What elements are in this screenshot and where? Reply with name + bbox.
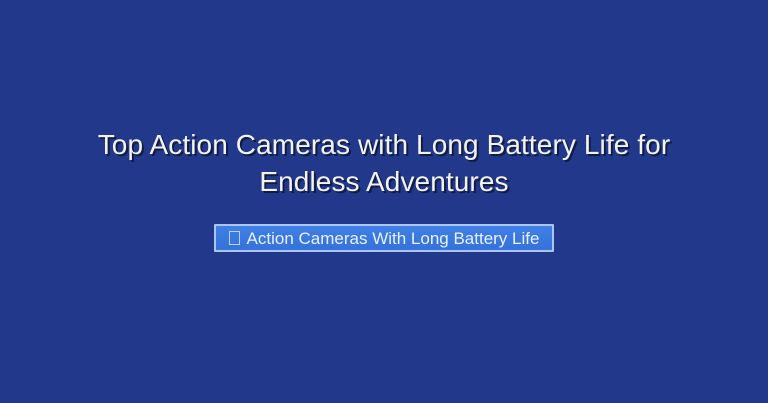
- missing-glyph-box-icon: [229, 231, 240, 245]
- hero-banner: Top Action Cameras with Long Battery Lif…: [0, 0, 768, 403]
- page-title: Top Action Cameras with Long Battery Lif…: [54, 126, 714, 200]
- cta-button[interactable]: Action Cameras With Long Battery Life: [214, 224, 555, 252]
- hero-content: Top Action Cameras with Long Battery Lif…: [0, 126, 768, 252]
- cta-container: Action Cameras With Long Battery Life: [0, 224, 768, 252]
- cta-button-label: Action Cameras With Long Battery Life: [247, 230, 540, 247]
